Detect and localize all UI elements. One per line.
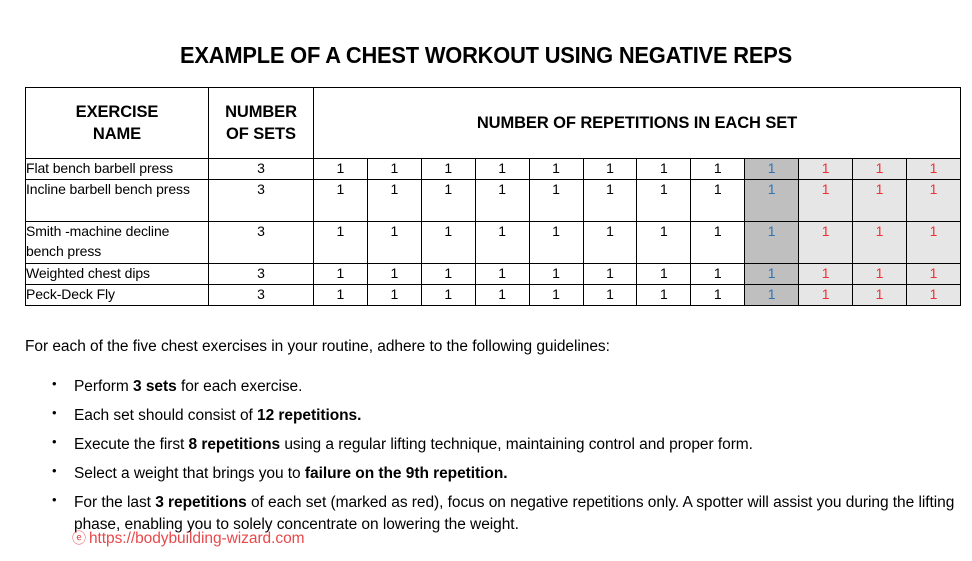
cell-rep-5: 1 <box>529 285 583 306</box>
cell-exercise-name: Smith -machine decline bench press <box>26 222 209 264</box>
cell-rep-negative-10: 1 <box>799 180 853 222</box>
cell-rep-6: 1 <box>583 285 637 306</box>
cell-number-of-sets: 3 <box>209 285 314 306</box>
guideline-text: using a regular lifting technique, maint… <box>280 436 753 453</box>
cell-rep-7: 1 <box>637 180 691 222</box>
guideline-item: Each set should consist of 12 repetition… <box>74 405 972 427</box>
cell-exercise-name: Incline barbell bench press <box>26 180 209 222</box>
guideline-text: Each set should consist of <box>74 407 257 424</box>
cell-number-of-sets: 3 <box>209 180 314 222</box>
cell-rep-4: 1 <box>475 159 529 180</box>
cell-rep-7: 1 <box>637 222 691 264</box>
cell-rep-1: 1 <box>314 180 368 222</box>
cell-rep-2: 1 <box>367 264 421 285</box>
table-row: Weighted chest dips3111111111111 <box>26 264 961 285</box>
cell-rep-2: 1 <box>367 222 421 264</box>
cell-rep-negative-11: 1 <box>853 159 907 180</box>
cell-rep-1: 1 <box>314 285 368 306</box>
cell-rep-2: 1 <box>367 285 421 306</box>
header-number-of-repetitions: NUMBER OF REPETITIONS IN EACH SET <box>314 88 961 159</box>
cell-rep-negative-10: 1 <box>799 222 853 264</box>
table-header: EXERCISE NAME NUMBER OF SETS NUMBER OF R… <box>26 88 961 159</box>
guideline-emphasis: 3 sets <box>133 378 177 395</box>
cell-rep-6: 1 <box>583 222 637 264</box>
cell-rep-3: 1 <box>421 285 475 306</box>
page-title: EXAMPLE OF A CHEST WORKOUT USING NEGATIV… <box>24 42 947 69</box>
cell-rep-1: 1 <box>314 159 368 180</box>
table-row: Smith -machine decline bench press311111… <box>26 222 961 264</box>
cell-rep-8: 1 <box>691 264 745 285</box>
copyright-icon: ⓔ <box>72 528 86 548</box>
cell-rep-6: 1 <box>583 264 637 285</box>
header-exercise-name: EXERCISE NAME <box>26 88 209 159</box>
guideline-item: Select a weight that brings you to failu… <box>74 463 972 485</box>
cell-rep-7: 1 <box>637 159 691 180</box>
cell-rep-3: 1 <box>421 159 475 180</box>
cell-rep-5: 1 <box>529 180 583 222</box>
cell-number-of-sets: 3 <box>209 222 314 264</box>
cell-rep-negative-12: 1 <box>906 222 960 264</box>
table-body: Flat bench barbell press3111111111111Inc… <box>26 159 961 306</box>
table-row: Flat bench barbell press3111111111111 <box>26 159 961 180</box>
cell-rep-failure-9: 1 <box>745 264 799 285</box>
guideline-text: Select a weight that brings you to <box>74 465 305 482</box>
cell-rep-6: 1 <box>583 159 637 180</box>
guideline-item: Perform 3 sets for each exercise. <box>74 376 972 398</box>
cell-rep-failure-9: 1 <box>745 285 799 306</box>
cell-rep-5: 1 <box>529 159 583 180</box>
footer: ⓔhttps://bodybuilding-wizard.com <box>72 528 305 548</box>
guideline-item: Execute the first 8 repetitions using a … <box>74 434 972 456</box>
cell-rep-negative-11: 1 <box>853 264 907 285</box>
cell-rep-failure-9: 1 <box>745 222 799 264</box>
header-number-of-sets: NUMBER OF SETS <box>209 88 314 159</box>
cell-rep-6: 1 <box>583 180 637 222</box>
cell-rep-7: 1 <box>637 264 691 285</box>
cell-rep-negative-10: 1 <box>799 264 853 285</box>
cell-rep-4: 1 <box>475 285 529 306</box>
table-header-row: EXERCISE NAME NUMBER OF SETS NUMBER OF R… <box>26 88 961 159</box>
cell-rep-3: 1 <box>421 264 475 285</box>
cell-rep-1: 1 <box>314 264 368 285</box>
cell-exercise-name: Weighted chest dips <box>26 264 209 285</box>
guideline-emphasis: 3 repetitions <box>155 494 247 511</box>
cell-rep-negative-10: 1 <box>799 285 853 306</box>
cell-exercise-name: Flat bench barbell press <box>26 159 209 180</box>
source-url-link[interactable]: https://bodybuilding-wizard.com <box>89 530 305 547</box>
header-exercise-name-line2: NAME <box>93 125 141 143</box>
cell-rep-negative-12: 1 <box>906 180 960 222</box>
guideline-emphasis: failure on the 9th repetition. <box>305 465 508 482</box>
table-row: Peck-Deck Fly3111111111111 <box>26 285 961 306</box>
cell-rep-negative-12: 1 <box>906 285 960 306</box>
guideline-emphasis: 12 repetitions. <box>257 407 361 424</box>
cell-rep-negative-12: 1 <box>906 159 960 180</box>
cell-rep-negative-11: 1 <box>853 180 907 222</box>
cell-rep-failure-9: 1 <box>745 159 799 180</box>
cell-rep-3: 1 <box>421 222 475 264</box>
guidelines-list: Perform 3 sets for each exercise.Each se… <box>40 376 972 543</box>
cell-rep-5: 1 <box>529 264 583 285</box>
guideline-text: for each exercise. <box>177 378 303 395</box>
cell-rep-8: 1 <box>691 180 745 222</box>
header-exercise-name-line1: EXERCISE <box>76 103 159 121</box>
header-number-of-sets-line2: OF SETS <box>226 125 296 143</box>
cell-rep-negative-11: 1 <box>853 222 907 264</box>
cell-rep-4: 1 <box>475 222 529 264</box>
cell-rep-3: 1 <box>421 180 475 222</box>
intro-paragraph: For each of the five chest exercises in … <box>25 337 945 357</box>
cell-number-of-sets: 3 <box>209 159 314 180</box>
cell-number-of-sets: 3 <box>209 264 314 285</box>
cell-rep-4: 1 <box>475 264 529 285</box>
guideline-text: Execute the first <box>74 436 189 453</box>
guideline-emphasis: 8 repetitions <box>189 436 281 453</box>
cell-rep-2: 1 <box>367 180 421 222</box>
cell-rep-4: 1 <box>475 180 529 222</box>
cell-rep-negative-12: 1 <box>906 264 960 285</box>
cell-rep-8: 1 <box>691 222 745 264</box>
workout-table: EXERCISE NAME NUMBER OF SETS NUMBER OF R… <box>25 87 961 306</box>
cell-rep-8: 1 <box>691 159 745 180</box>
cell-rep-negative-10: 1 <box>799 159 853 180</box>
cell-rep-5: 1 <box>529 222 583 264</box>
cell-exercise-name: Peck-Deck Fly <box>26 285 209 306</box>
table-row: Incline barbell bench press3111111111111 <box>26 180 961 222</box>
cell-rep-1: 1 <box>314 222 368 264</box>
guideline-text: Perform <box>74 378 133 395</box>
guideline-text: For the last <box>74 494 155 511</box>
cell-rep-7: 1 <box>637 285 691 306</box>
cell-rep-2: 1 <box>367 159 421 180</box>
cell-rep-8: 1 <box>691 285 745 306</box>
cell-rep-failure-9: 1 <box>745 180 799 222</box>
cell-rep-negative-11: 1 <box>853 285 907 306</box>
header-number-of-sets-line1: NUMBER <box>225 103 297 121</box>
